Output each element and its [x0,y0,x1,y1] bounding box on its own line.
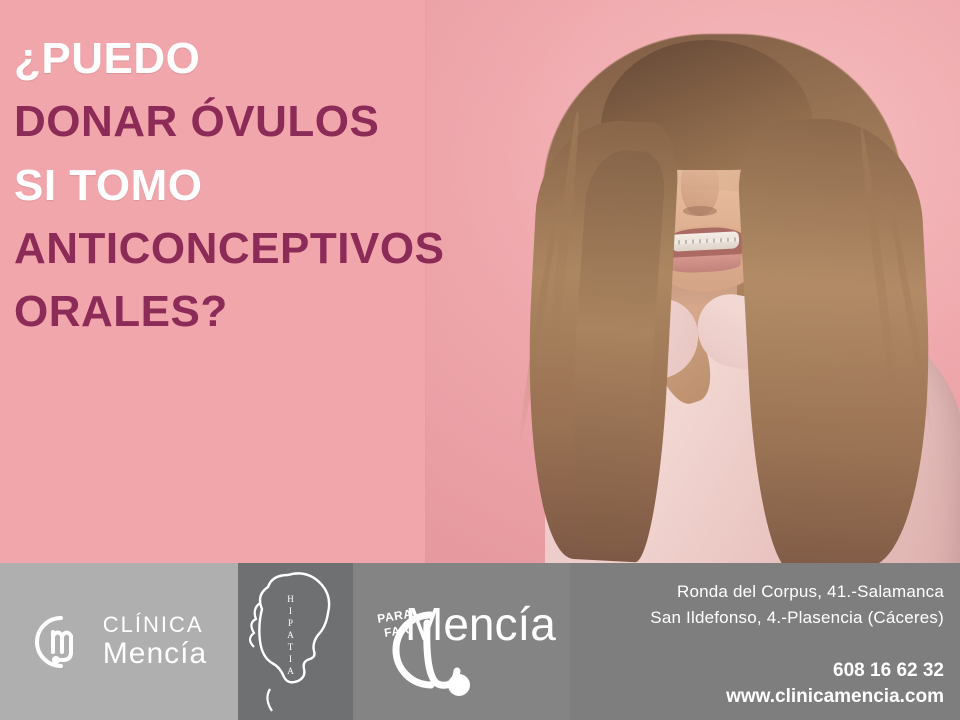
cm-monogram-icon [31,610,95,674]
phone-number[interactable]: 608 16 62 32 [580,658,944,684]
contact-block: Ronda del Corpus, 41.-Salamanca San Ilde… [570,563,960,720]
hipatia-letter: H [284,593,298,605]
hipatia-wordmark: H I P A T I A [284,593,298,677]
parafar-wordmark: Mencía [405,597,556,651]
parafar-mencia-logo[interactable]: PARA FAR Mencía [353,563,570,720]
hipatia-logo[interactable]: H I P A T I A [238,563,353,720]
clinic-word-line2: Mencía [103,638,207,670]
address-line-1: Ronda del Corpus, 41.-Salamanca [580,579,944,605]
website-url[interactable]: www.clinicamencia.com [580,684,944,710]
hipatia-letter: T [284,641,298,653]
headline-line-1: ¿PUEDO [0,34,520,83]
hipatia-letter: A [284,665,298,677]
headline-line-3: SI TOMO [0,161,520,210]
clinica-mencia-wordmark: CLÍNICA Mencía [103,613,207,670]
clinica-mencia-logo[interactable]: CLÍNICA Mencía [0,563,238,720]
headline-line-2: DONAR ÓVULOS [0,97,520,146]
hipatia-letter: I [284,653,298,665]
clinic-word-line1: CLÍNICA [103,613,207,636]
hipatia-letter: P [284,617,298,629]
hipatia-letter: I [284,605,298,617]
hipatia-letter: A [284,629,298,641]
address-line-2: San Ildefonso, 4.-Plasencia (Cáceres) [580,605,944,631]
headline-block: ¿PUEDO DONAR ÓVULOS SI TOMO ANTICONCEPTI… [0,34,520,350]
headline-line-5: ORALES? [0,287,520,336]
poster-canvas: ¿PUEDO DONAR ÓVULOS SI TOMO ANTICONCEPTI… [0,0,960,720]
headline-line-4: ANTICONCEPTIVOS [0,224,520,273]
address-block: Ronda del Corpus, 41.-Salamanca San Ilde… [580,579,944,631]
phone-web-block: 608 16 62 32 www.clinicamencia.com [580,658,944,710]
